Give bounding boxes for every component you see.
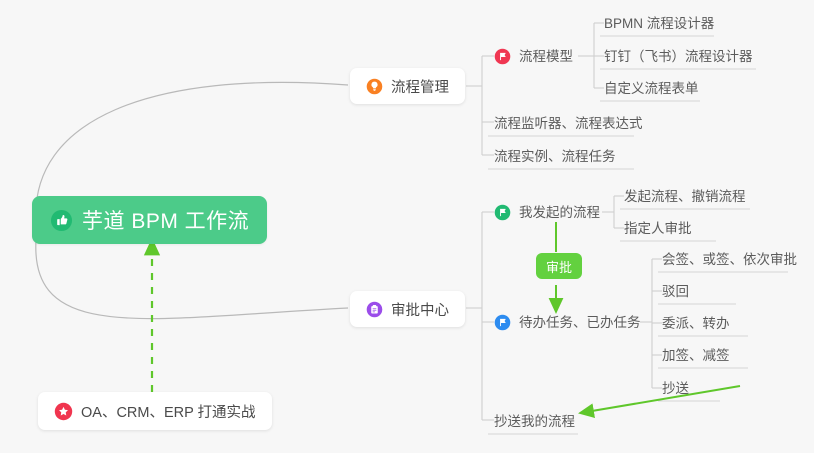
node-label-countersign: 会签、或签、依次审批	[662, 248, 797, 268]
node-label-dingtalk-feishu-designer: 钉钉（飞书）流程设计器	[604, 45, 753, 65]
flag-circle-icon	[494, 204, 511, 221]
node-label-start-cancel-process: 发起流程、撤销流程	[624, 185, 746, 205]
node-label-delegate-transfer: 委派、转办	[662, 312, 730, 332]
star-circle-icon	[54, 402, 73, 421]
mindmap-canvas: 芋道 BPM 工作流 OA、CRM、ERP 打通实战 流程管理	[0, 0, 814, 453]
branch-label-process-management: 流程管理	[391, 76, 449, 97]
branch-node-process-management[interactable]: 流程管理	[350, 68, 465, 104]
node-cc[interactable]: 抄送	[660, 374, 695, 400]
thumbs-up-icon	[50, 209, 73, 232]
node-assignee-approval[interactable]: 指定人审批	[622, 214, 698, 240]
node-process-listener[interactable]: 流程监听器、流程表达式	[492, 109, 649, 135]
node-bpmn-designer[interactable]: BPMN 流程设计器	[602, 9, 720, 35]
node-reject[interactable]: 驳回	[660, 277, 695, 303]
node-todo-done-tasks[interactable]: 待办任务、已办任务	[492, 308, 647, 334]
node-label-assignee-approval: 指定人审批	[624, 217, 692, 237]
node-label-process-instance: 流程实例、流程任务	[494, 145, 616, 165]
node-delegate-transfer[interactable]: 委派、转办	[660, 309, 736, 335]
node-label-my-initiated: 我发起的流程	[519, 201, 600, 221]
node-dingtalk-feishu-designer[interactable]: 钉钉（飞书）流程设计器	[602, 42, 759, 68]
footnote-label: OA、CRM、ERP 打通实战	[81, 401, 256, 422]
branch-node-approval-center[interactable]: 审批中心	[350, 291, 465, 327]
node-label-add-remove-sign: 加签、减签	[662, 344, 730, 364]
root-label: 芋道 BPM 工作流	[82, 205, 249, 235]
annotation-approval-tag-label: 审批	[546, 257, 572, 276]
footnote-node[interactable]: OA、CRM、ERP 打通实战	[38, 392, 272, 430]
node-process-instance[interactable]: 流程实例、流程任务	[492, 142, 622, 168]
flag-circle-icon	[494, 48, 511, 65]
annotation-approval-tag: 审批	[536, 253, 582, 279]
node-add-remove-sign[interactable]: 加签、减签	[660, 341, 736, 367]
node-label-process-model: 流程模型	[519, 45, 573, 65]
node-process-model[interactable]: 流程模型	[492, 42, 579, 68]
flag-circle-icon	[494, 314, 511, 331]
node-label-cc-to-me: 抄送我的流程	[494, 410, 575, 430]
clipboard-circle-icon	[366, 301, 383, 318]
branch-label-approval-center: 审批中心	[391, 299, 449, 320]
root-node[interactable]: 芋道 BPM 工作流	[32, 196, 267, 244]
node-cc-to-me[interactable]: 抄送我的流程	[492, 407, 581, 433]
node-start-cancel-process[interactable]: 发起流程、撤销流程	[622, 182, 752, 208]
node-label-bpmn-designer: BPMN 流程设计器	[604, 12, 714, 32]
node-label-custom-process-form: 自定义流程表单	[604, 77, 699, 97]
node-label-process-listener: 流程监听器、流程表达式	[494, 112, 643, 132]
node-countersign[interactable]: 会签、或签、依次审批	[660, 245, 803, 271]
lightbulb-circle-icon	[366, 78, 383, 95]
node-label-todo-done-tasks: 待办任务、已办任务	[519, 311, 641, 331]
node-label-cc: 抄送	[662, 377, 689, 397]
node-label-reject: 驳回	[662, 280, 689, 300]
node-custom-process-form[interactable]: 自定义流程表单	[602, 74, 705, 100]
node-my-initiated[interactable]: 我发起的流程	[492, 198, 606, 224]
